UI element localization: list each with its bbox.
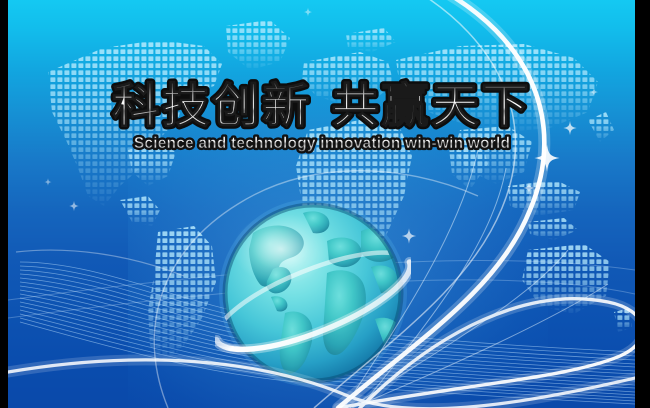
frame-border-right xyxy=(635,0,650,408)
artwork-area: 科技创新 共赢天下 科技创新 共赢天下 Science and technolo… xyxy=(8,0,635,408)
frame-border-left xyxy=(0,0,8,408)
background-gradient xyxy=(8,0,635,408)
poster-canvas: 科技创新 共赢天下 科技创新 共赢天下 Science and technolo… xyxy=(0,0,650,408)
